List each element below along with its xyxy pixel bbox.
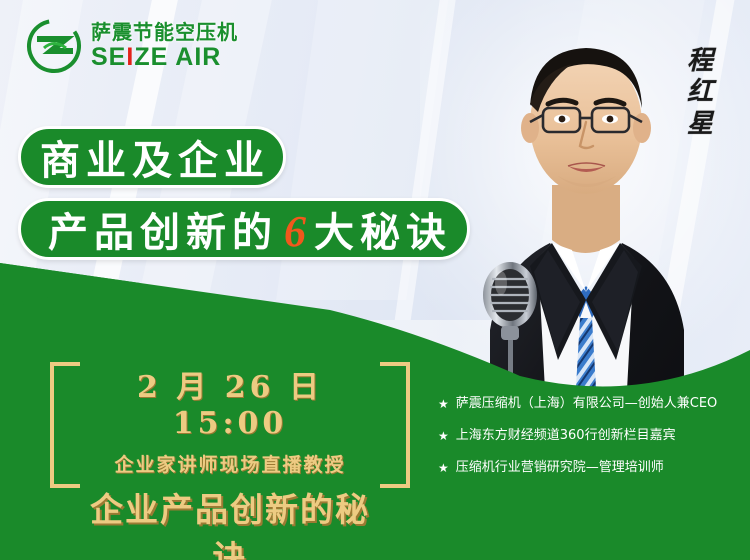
brand-en-part2: ZE AIR [134, 43, 221, 71]
credentials-list: ★ 萨震压缩机（上海）有限公司—创始人兼CEO ★ 上海东方财经频道360行创新… [438, 396, 738, 492]
brand-logo: 萨震节能空压机 SEIZE AIR [26, 18, 238, 74]
speaker-name-char: 程 [687, 48, 713, 75]
event-subtitle: 企业家讲师现场直播教授 [84, 450, 376, 477]
brand-en-part1: SE [91, 43, 126, 71]
brand-name-en: SEIZE AIR [91, 45, 238, 70]
poster-canvas: 萨震节能空压机 SEIZE AIR 商业及企业 产品创新的6大秘诀 程 红 星 … [0, 0, 750, 560]
star-icon: ★ [438, 460, 449, 476]
brand-name-cn: 萨震节能空压机 [91, 22, 238, 42]
list-item: ★ 压缩机行业营销研究院—管理培训师 [438, 460, 738, 477]
speaker-name-char: 星 [687, 111, 713, 138]
star-icon: ★ [438, 396, 449, 412]
credential-text: 上海东方财经频道360行创新栏目嘉宾 [456, 428, 676, 445]
credential-text: 压缩机行业营销研究院—管理培训师 [456, 460, 664, 477]
event-headline: 企业产品创新的秘诀 [84, 483, 376, 560]
title-line2-text: 产品创新的6大秘诀 [36, 200, 452, 258]
bracket-left-decoration [50, 362, 80, 488]
speaker-name-char: 红 [687, 79, 713, 106]
list-item: ★ 上海东方财经频道360行创新栏目嘉宾 [438, 428, 738, 445]
sz-circle-logo-icon [26, 18, 82, 74]
credential-text: 萨震压缩机（上海）有限公司—创始人兼CEO [456, 396, 718, 413]
title-line1-text: 商业及企业 [34, 128, 270, 186]
star-icon: ★ [438, 428, 449, 444]
event-info-block: 2 月 26 日 15:00 企业家讲师现场直播教授 企业产品创新的秘诀 [50, 358, 410, 488]
speaker-name-vertical: 程 红 星 [672, 48, 728, 138]
title-number-six: 6 [278, 207, 308, 256]
bracket-right-decoration [380, 362, 410, 488]
list-item: ★ 萨震压缩机（上海）有限公司—创始人兼CEO [438, 396, 738, 413]
event-datetime: 2 月 26 日 15:00 [84, 362, 376, 441]
title-pill-line1: 商业及企业 [18, 126, 286, 188]
title-line2-before: 产品创新的 [42, 210, 278, 256]
title-line2-after: 大秘诀 [308, 210, 452, 256]
event-text-group: 2 月 26 日 15:00 企业家讲师现场直播教授 企业产品创新的秘诀 [84, 358, 376, 560]
title-pill-line2: 产品创新的6大秘诀 [18, 198, 470, 260]
